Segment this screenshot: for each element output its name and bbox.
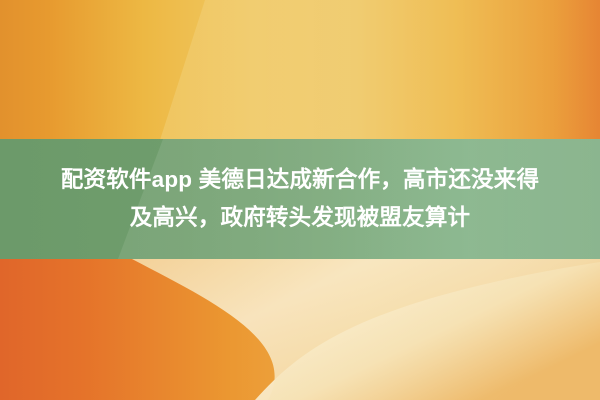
headline-line-1: 配资软件app 美德日达成新合作，高市还没来得 (61, 161, 539, 199)
headline-text-block: 配资软件app 美德日达成新合作，高市还没来得 及高兴，政府转头发现被盟友算计 (0, 139, 600, 259)
promo-banner: 配资软件app 美德日达成新合作，高市还没来得 及高兴，政府转头发现被盟友算计 (0, 0, 600, 400)
sweep-upper-highlight (160, 0, 600, 140)
headline-line-2: 及高兴，政府转头发现被盟友算计 (130, 199, 471, 237)
sweep-lower-fill (132, 259, 600, 400)
